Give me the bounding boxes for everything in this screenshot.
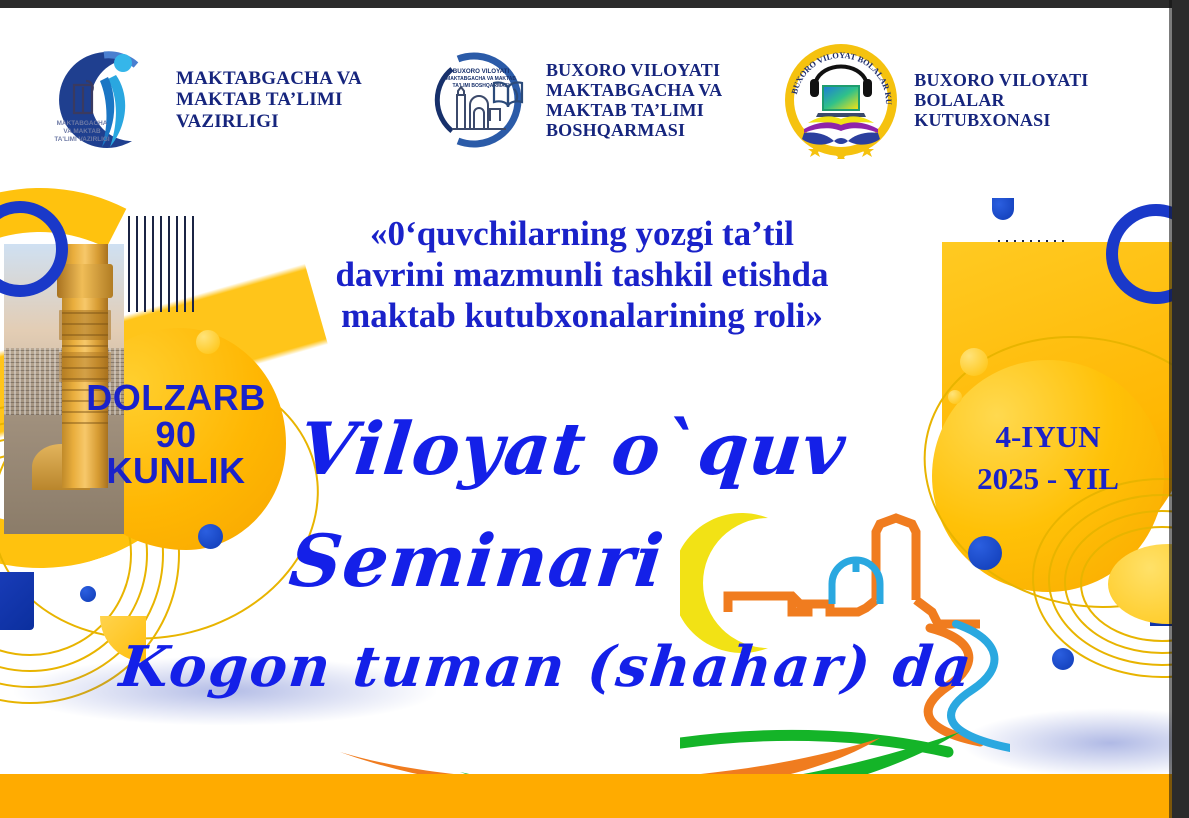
right-ring-1-decoration <box>1032 478 1172 678</box>
vertical-bars-right-decoration <box>998 240 1068 336</box>
blue-dot-right-1-decoration <box>968 536 1002 570</box>
frame-right-inner-border <box>1169 0 1172 818</box>
badge-left-line-3: KUNLIK <box>66 453 286 490</box>
blue-dot-left-1-decoration <box>198 524 223 549</box>
poster-canvas: MAKTABGACHA VA MAKTAB TA'LIMI VAZIRLIGI … <box>0 8 1172 818</box>
logo-dept-line-1: BUXORO VILOYATI <box>546 60 722 80</box>
seminar-theme-line-1: «0‘quvchilarning yozgi ta’til <box>232 214 932 255</box>
blue-dot-right-2-decoration <box>1052 648 1074 670</box>
blue-blur-shadow-right <box>960 708 1172 778</box>
screenshot-root: MAKTABGACHA VA MAKTAB TA'LIMI VAZIRLIGI … <box>0 0 1189 818</box>
headline-line-2: Seminari <box>286 518 915 603</box>
logo-ministry-line-1: MAKTABGACHA VA <box>176 68 362 89</box>
logo-dept-line-2: MAKTABGACHA VA <box>546 80 722 100</box>
logo-regional-department: BUXORO VILOYATI MAKTABGACHA VA MAKTAB TA… <box>428 47 722 153</box>
seminar-theme-line-3: maktab kutubxonalarining roli» <box>232 296 932 337</box>
logo-ministry-line-3: VAZIRLIGI <box>176 111 362 132</box>
logo-library-line-3: KUTUBXONASI <box>914 110 1088 130</box>
yellow-dot-left-decoration <box>196 330 220 354</box>
right-yellow-dot-decoration <box>1108 544 1172 624</box>
svg-text:BUXORO VILOYATI: BUXORO VILOYATI <box>453 68 510 75</box>
bukhara-regional-education-department-logo-icon: BUXORO VILOYATI MAKTABGACHA VA MAKTAB TA… <box>428 47 534 153</box>
frame-top-border <box>0 0 1189 8</box>
logo-dept-line-4: BOSHQARMASI <box>546 120 722 140</box>
right-ring-4-decoration <box>1080 526 1172 642</box>
yellow-dot-right-1-decoration <box>960 348 988 376</box>
bottom-orange-bar <box>0 774 1172 818</box>
logo-ministry-label: MAKTABGACHA VA MAKTAB TA’LIMI VAZIRLIGI <box>176 68 362 132</box>
vertical-bars-left-decoration <box>128 216 194 312</box>
svg-text:MAKTABGACHA: MAKTABGACHA <box>57 120 108 127</box>
badge-left-line-2: 90 <box>66 417 286 454</box>
logo-ministry-line-2: MAKTAB TA’LIMI <box>176 89 362 110</box>
logo-dept-line-3: MAKTAB TA’LIMI <box>546 100 722 120</box>
yellow-dot-right-2-decoration <box>948 390 962 404</box>
badge-left-line-1: DOLZARB <box>66 380 286 417</box>
badge-right-line-1: 4-IYUN <box>952 416 1144 458</box>
svg-text:VA MAKTAB: VA MAKTAB <box>63 128 101 135</box>
seminar-theme-line-2: davrini mazmunli tashkil etishda <box>232 255 932 296</box>
frame-right-border <box>1172 0 1189 818</box>
logo-library-label: BUXORO VILOYATI BOLALAR KUTUBXONASI <box>914 70 1088 130</box>
right-ring-2-decoration <box>1048 494 1172 666</box>
logo-row: MAKTABGACHA VA MAKTAB TA'LIMI VAZIRLIGI … <box>0 26 1172 174</box>
headline-line-1: Viloyat o`quv <box>296 406 925 491</box>
ministry-preschool-school-education-logo-icon: MAKTABGACHA VA MAKTAB TA'LIMI VAZIRLIGI <box>44 41 162 159</box>
right-ring-3-decoration <box>1064 510 1172 654</box>
blue-dot-left-2-decoration <box>80 586 96 602</box>
badge-right-line-2: 2025 - YIL <box>952 458 1144 500</box>
svg-text:MAKTABGACHA VA MAKTAB: MAKTABGACHA VA MAKTAB <box>446 76 516 82</box>
blue-ring-right-decoration <box>1106 204 1172 304</box>
headline-line-3: Kogon tuman (shahar) da <box>117 634 1024 700</box>
logo-regional-department-label: BUXORO VILOYATI MAKTABGACHA VA MAKTAB TA… <box>546 60 722 141</box>
logo-childrens-library: BUXORO VILOYAT BOLALAR KUTUBXONASI <box>782 41 1088 159</box>
logo-library-line-1: BUXORO VILOYATI <box>914 70 1088 90</box>
photo-sky-layer <box>4 244 124 360</box>
logo-library-line-2: BOLALAR <box>914 90 1088 110</box>
blue-ring-left-decoration <box>0 201 68 297</box>
logo-ministry: MAKTABGACHA VA MAKTAB TA'LIMI VAZIRLIGI … <box>44 41 362 159</box>
blue-square-left-decoration <box>0 572 34 630</box>
blue-halfdot-right-decoration <box>992 198 1014 220</box>
right-yellow-shape-decoration <box>942 242 1172 572</box>
dolzarb-90-kunlik-badge: DOLZARB 90 KUNLIK <box>66 380 286 490</box>
seminar-theme-title: «0‘quvchilarning yozgi ta’til davrini ma… <box>232 214 932 337</box>
bukhara-regional-childrens-library-logo-icon: BUXORO VILOYAT BOLALAR KUTUBXONASI <box>782 41 900 159</box>
svg-text:TA'LIMI VAZIRLIGI: TA'LIMI VAZIRLIGI <box>54 136 109 143</box>
event-date-badge: 4-IYUN 2025 - YIL <box>952 416 1144 500</box>
